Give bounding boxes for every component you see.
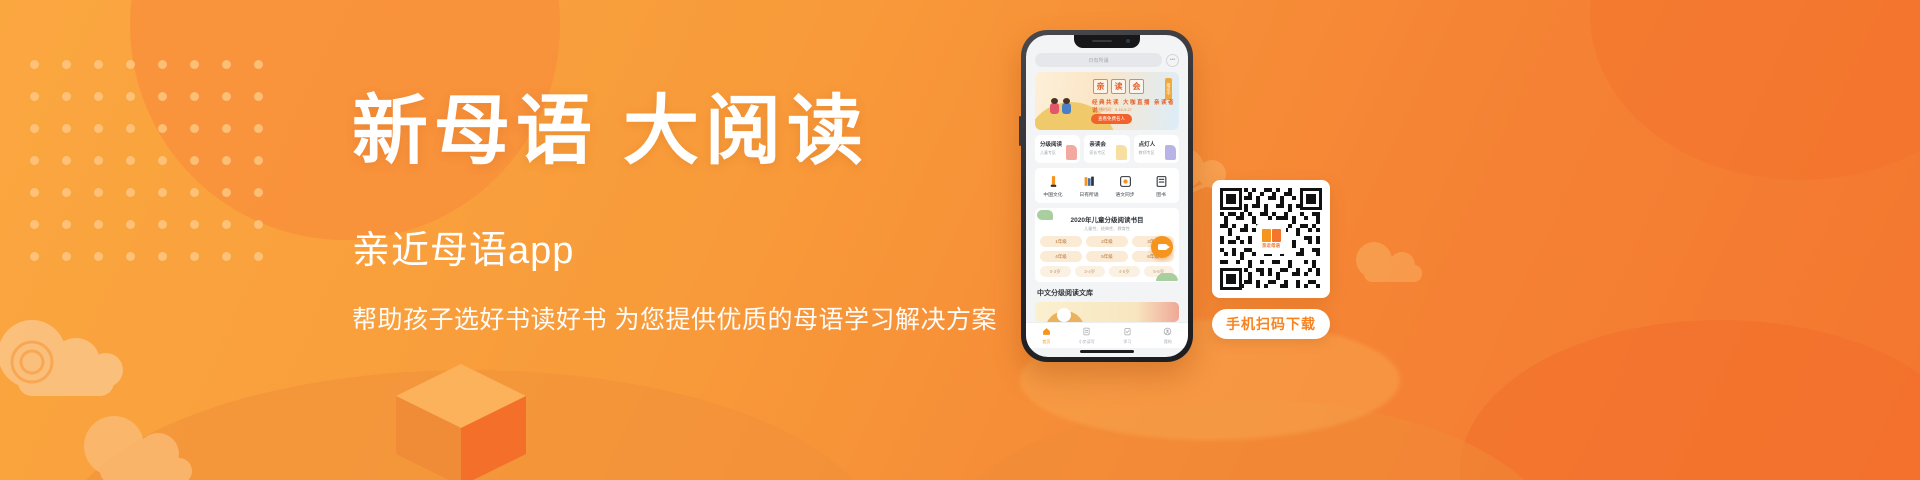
tab-label: 学习 bbox=[1107, 339, 1148, 345]
page-title: 新母语 大阅读 bbox=[352, 92, 1012, 173]
book-icon bbox=[1154, 174, 1168, 188]
qr-code-image: 亲近母语 bbox=[1218, 186, 1324, 292]
tagline-text: 帮助孩子选好书读好书 为您提供优质的母语学习解决方案 bbox=[352, 300, 1012, 336]
phone-notch bbox=[1074, 35, 1140, 48]
age-tag[interactable]: 4-5岁 bbox=[1109, 266, 1140, 277]
search-placeholder: 日有所诵 bbox=[1088, 57, 1108, 64]
age-tag[interactable]: 0-3岁 bbox=[1040, 266, 1071, 277]
checklist-icon bbox=[1122, 327, 1132, 337]
tab-label: 首页 bbox=[1026, 339, 1067, 345]
3d-cube-shape bbox=[396, 364, 526, 480]
app-tab-bar: 首页 小步读写 学习 bbox=[1026, 322, 1188, 348]
grade-tag[interactable]: 4年级 bbox=[1040, 251, 1082, 262]
tab-reading-writing[interactable]: 小步读写 bbox=[1067, 327, 1108, 345]
tab-home[interactable]: 首页 bbox=[1026, 327, 1067, 345]
scroll-icon bbox=[1046, 174, 1060, 188]
booklist-title: 2020年儿童分级阅读书目 bbox=[1040, 214, 1174, 224]
quick-link-textbook-sync[interactable]: 语文同步 bbox=[1107, 174, 1143, 198]
grade-tag[interactable]: 2年级 bbox=[1086, 236, 1128, 247]
square-icon bbox=[1118, 174, 1132, 188]
phone-side-button bbox=[1019, 116, 1021, 146]
hero-title: 亲 读 会 bbox=[1093, 79, 1144, 94]
phone-screen: 日有所诵 ••• 亲 读 会 报名中 经典共读 大咖直播 亲读者说 直播时间： bbox=[1026, 35, 1188, 357]
category-card-graded-reading[interactable]: 分级阅读 儿童专区 bbox=[1035, 135, 1080, 163]
hero-title-char: 亲 bbox=[1093, 79, 1108, 94]
age-tag[interactable]: 3-4岁 bbox=[1075, 266, 1106, 277]
library-circle-decor bbox=[1057, 308, 1071, 322]
category-shape-icon bbox=[1066, 145, 1077, 160]
open-book-icon: 亲近母语 bbox=[1256, 224, 1286, 254]
age-tag-row: 0-3岁 3-4岁 4-5岁 5-6岁 bbox=[1040, 266, 1174, 277]
hero-child-illustration-2 bbox=[1062, 103, 1071, 114]
tab-profile[interactable]: 我的 bbox=[1148, 327, 1189, 345]
quick-link-chinese-culture[interactable]: 中国文化 bbox=[1035, 174, 1071, 198]
download-button[interactable]: 手机扫码下载 bbox=[1212, 309, 1330, 339]
leaf-decor-right bbox=[1156, 273, 1178, 281]
chinese-cloud-motif-bottom bbox=[74, 400, 224, 480]
quick-link-label: 语文同步 bbox=[1107, 191, 1143, 198]
decor-hill-left bbox=[60, 370, 880, 480]
qr-block: 亲近母语 手机扫码下载 bbox=[1212, 180, 1330, 339]
video-play-icon[interactable] bbox=[1151, 236, 1173, 258]
tab-label: 我的 bbox=[1148, 339, 1189, 345]
doc-icon bbox=[1082, 327, 1092, 337]
dot-grid-pattern bbox=[30, 60, 286, 284]
search-input[interactable]: 日有所诵 bbox=[1035, 53, 1162, 67]
category-shape-icon bbox=[1165, 145, 1176, 160]
copy-block: 新母语 大阅读 亲近母语app 帮助孩子选好书读好书 为您提供优质的母语学习解决… bbox=[352, 92, 1012, 336]
qr-logo-name: 亲近母语 bbox=[1262, 243, 1280, 249]
qr-code-card[interactable]: 亲近母语 bbox=[1212, 180, 1330, 298]
hero-banner-card[interactable]: 亲 读 会 报名中 经典共读 大咖直播 亲读者说 直播时间：9.16-9.27 … bbox=[1035, 72, 1179, 130]
quick-link-label: 日有所诵 bbox=[1071, 191, 1107, 198]
user-icon bbox=[1163, 327, 1173, 337]
decor-circle-bottom-right bbox=[1460, 320, 1920, 480]
promo-banner: 新母语 大阅读 亲近母语app 帮助孩子选好书读好书 为您提供优质的母语学习解决… bbox=[0, 0, 1920, 480]
app-search-bar[interactable]: 日有所诵 ••• bbox=[1035, 53, 1179, 67]
hero-ribbon-badge: 报名中 bbox=[1165, 78, 1172, 100]
leaf-decor-left bbox=[1037, 210, 1053, 220]
quick-link-daily-recitation[interactable]: 日有所诵 bbox=[1071, 174, 1107, 198]
hero-cta-button[interactable]: 查看免费名人 bbox=[1091, 114, 1132, 124]
library-banner-card[interactable] bbox=[1035, 302, 1179, 322]
category-card-parent-club[interactable]: 亲读会 家长专区 bbox=[1084, 135, 1129, 163]
tab-label: 小步读写 bbox=[1067, 339, 1108, 345]
hero-date-text: 直播时间：9.16-9.27 bbox=[1095, 107, 1132, 113]
category-card-row: 分级阅读 儿童专区 亲读会 家长专区 点灯人 教师专区 bbox=[1035, 135, 1179, 163]
chinese-cloud-motif-small bbox=[1348, 232, 1440, 290]
hero-title-char: 读 bbox=[1111, 79, 1126, 94]
quick-link-row: 中国文化 日有所诵 语文同步 bbox=[1035, 168, 1179, 203]
category-card-teacher[interactable]: 点灯人 教师专区 bbox=[1134, 135, 1179, 163]
quick-link-books[interactable]: 图书 bbox=[1143, 174, 1179, 198]
more-dots-icon[interactable]: ••• bbox=[1166, 54, 1179, 67]
hero-child-illustration-1 bbox=[1050, 103, 1059, 114]
category-shape-icon bbox=[1116, 145, 1127, 160]
grade-tag[interactable]: 1年级 bbox=[1040, 236, 1082, 247]
home-icon bbox=[1041, 327, 1051, 337]
tab-study[interactable]: 学习 bbox=[1107, 327, 1148, 345]
hero-title-char: 会 bbox=[1129, 79, 1144, 94]
quick-link-label: 中国文化 bbox=[1035, 191, 1071, 198]
phone-home-indicator bbox=[1080, 350, 1134, 353]
decor-hill-right bbox=[940, 400, 1560, 480]
grade-tag[interactable]: 5年级 bbox=[1086, 251, 1128, 262]
quick-link-label: 图书 bbox=[1143, 191, 1179, 198]
booklist-card[interactable]: 2020年儿童分级阅读书目 儿童性、经典性、教育性 1年级 2年级 3年级 4年… bbox=[1035, 208, 1179, 282]
phone-mockup: 日有所诵 ••• 亲 读 会 报名中 经典共读 大咖直播 亲读者说 直播时间： bbox=[1021, 30, 1193, 362]
booklist-subtitle: 儿童性、经典性、教育性 bbox=[1040, 226, 1174, 232]
app-name: 亲近母语app bbox=[352, 219, 1012, 274]
library-section-title: 中文分级阅读文库 bbox=[1037, 288, 1177, 298]
books-icon bbox=[1082, 174, 1096, 188]
decor-circle-top-right bbox=[1590, 0, 1920, 180]
chinese-cloud-motif-left bbox=[0, 312, 144, 404]
